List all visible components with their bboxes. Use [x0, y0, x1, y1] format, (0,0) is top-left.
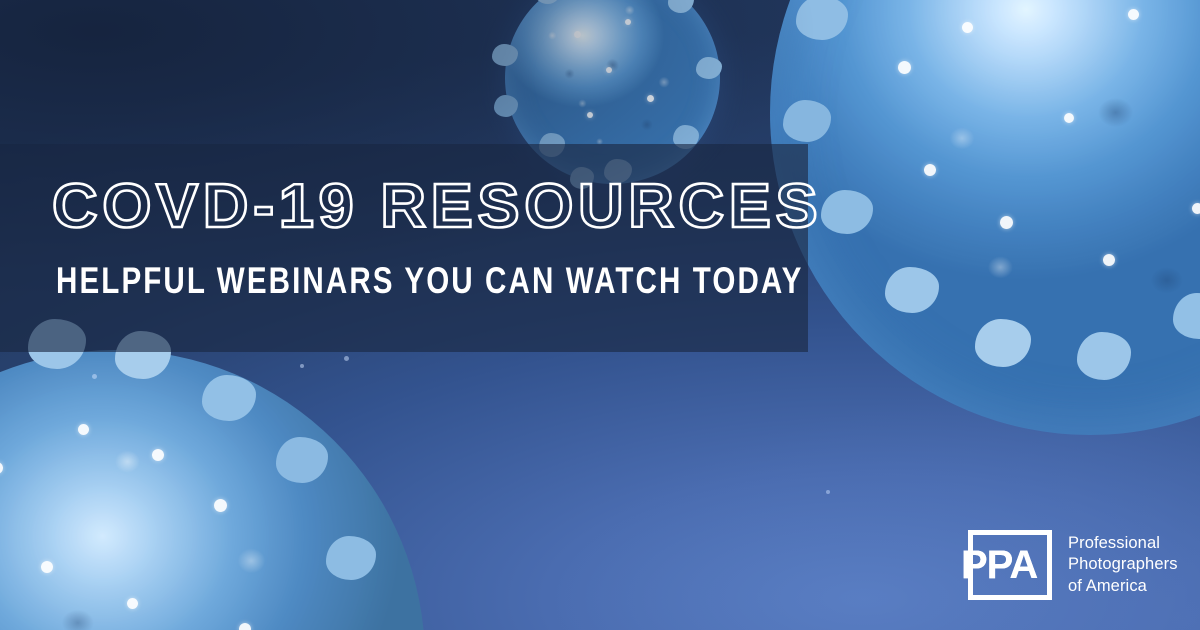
page-title: COVD-19 RESOURCES	[52, 176, 822, 238]
page-subtitle: HELPFUL WEBINARS YOU CAN WATCH TODAY	[56, 262, 804, 299]
ppa-logo-initials: PPA	[958, 545, 1040, 585]
ppa-logo: PPA Professional Photographers of Americ…	[968, 530, 1178, 600]
ppa-logo-mark: PPA	[968, 530, 1052, 600]
ppa-logo-line-3: of America	[1068, 576, 1178, 597]
ppa-logo-wordmark: Professional Photographers of America	[1068, 533, 1178, 596]
ppa-logo-line-1: Professional	[1068, 533, 1178, 554]
banner-canvas: COVD-19 RESOURCES HELPFUL WEBINARS YOU C…	[0, 0, 1200, 630]
ppa-logo-line-2: Photographers	[1068, 554, 1178, 575]
